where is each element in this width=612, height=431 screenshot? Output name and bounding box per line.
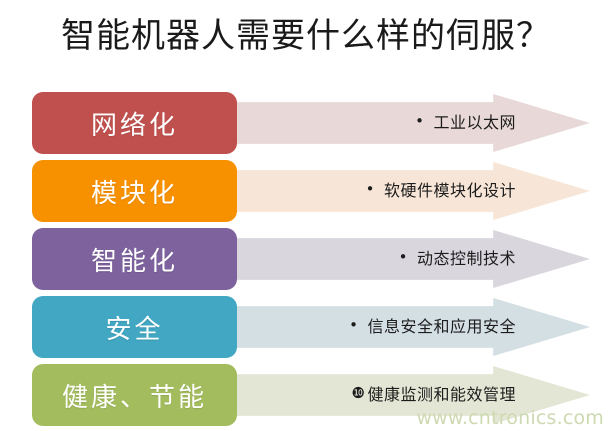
diagram-row[interactable]: • 信息安全和应用安全 安全 bbox=[0, 296, 612, 358]
page-title: 智能机器人需要什么样的伺服？ bbox=[0, 6, 612, 66]
diagram-row[interactable]: • 动态控制技术 智能化 bbox=[0, 228, 612, 290]
row-description-text: 动态控制技术 bbox=[417, 245, 516, 269]
bullet-icon: • bbox=[349, 318, 358, 333]
row-description: • 软硬件模块化设计 bbox=[366, 160, 516, 218]
row-label-text: 安全 bbox=[105, 309, 163, 346]
row-label-pill[interactable]: 网络化 bbox=[32, 92, 237, 154]
row-label-text: 模块化 bbox=[91, 173, 178, 210]
site-watermark: www.cntronics.com bbox=[416, 407, 604, 429]
bullet-icon: • bbox=[366, 182, 375, 197]
circled-ten-icon: ❿ bbox=[352, 386, 366, 401]
row-label-text: 网络化 bbox=[91, 105, 178, 142]
diagram-row[interactable]: • 工业以太网 网络化 bbox=[0, 92, 612, 154]
row-label-pill[interactable]: 模块化 bbox=[32, 160, 237, 222]
row-label-text: 健康、节能 bbox=[62, 377, 207, 414]
row-label-pill[interactable]: 智能化 bbox=[32, 228, 237, 290]
row-description: • 信息安全和应用安全 bbox=[349, 296, 516, 354]
slide-canvas: 智能机器人需要什么样的伺服？ • 工业以太网 网络化 • 软硬件模块化设计 模块… bbox=[0, 0, 612, 431]
row-label-text: 智能化 bbox=[91, 241, 178, 278]
row-description-text: 软硬件模块化设计 bbox=[384, 177, 516, 201]
row-label-pill[interactable]: 健康、节能 bbox=[32, 364, 237, 426]
bullet-icon: • bbox=[415, 114, 424, 129]
row-description: • 工业以太网 bbox=[415, 92, 516, 150]
row-description-text: 信息安全和应用安全 bbox=[367, 313, 516, 337]
diagram-rows: • 工业以太网 网络化 • 软硬件模块化设计 模块化 • 动态控制技术 bbox=[0, 92, 612, 431]
bullet-icon: • bbox=[399, 250, 408, 265]
row-description-text: 健康监测和能效管理 bbox=[367, 381, 516, 405]
row-label-pill[interactable]: 安全 bbox=[32, 296, 237, 358]
row-description: • 动态控制技术 bbox=[399, 228, 516, 286]
row-description-text: 工业以太网 bbox=[433, 109, 516, 133]
diagram-row[interactable]: • 软硬件模块化设计 模块化 bbox=[0, 160, 612, 222]
